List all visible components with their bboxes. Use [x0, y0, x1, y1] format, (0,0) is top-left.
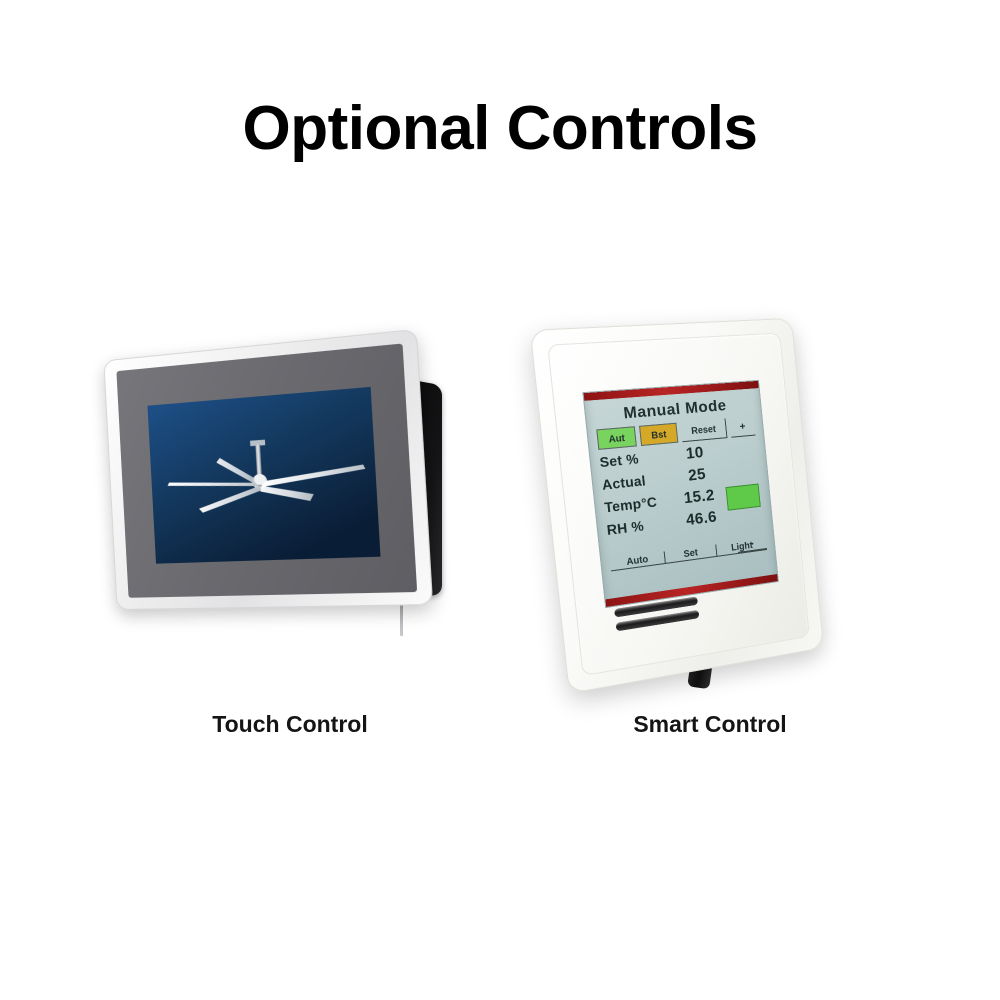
product-caption-touch-control: Touch Control — [80, 711, 500, 738]
smart-control-device[interactable]: Manual Mode Aut Bst Reset + Set % — [548, 318, 878, 718]
readout-value-set: 10 — [664, 442, 724, 465]
ceiling-fan-image — [147, 387, 380, 564]
footer-button-set[interactable]: Set — [664, 544, 718, 564]
touch-control-bezel — [103, 329, 433, 610]
mode-button-reset[interactable]: Reset — [680, 419, 727, 443]
smart-control-lcd-screen[interactable]: Manual Mode Aut Bst Reset + Set % — [582, 380, 778, 608]
footer-button-auto[interactable]: Auto — [610, 551, 666, 571]
touch-control-screen[interactable] — [147, 387, 380, 564]
touch-control-inner-frame — [116, 343, 417, 597]
page-title: Optional Controls — [0, 98, 1000, 160]
product-smart-control: Manual Mode Aut Bst Reset + Set % — [500, 300, 920, 780]
readout-spacer — [724, 452, 757, 455]
product-touch-control: Touch Control — [80, 300, 500, 780]
increment-button[interactable]: + — [729, 416, 755, 438]
smart-control-faceplate: Manual Mode Aut Bst Reset + Set % — [547, 333, 810, 677]
readout-label-set: Set % — [599, 448, 666, 470]
touch-control-device[interactable] — [110, 360, 460, 635]
readout-spacer — [731, 516, 764, 520]
product-gallery: Touch Control Manual Mode Aut Bst Reset — [0, 300, 1000, 780]
mode-button-auto[interactable]: Aut — [596, 426, 637, 450]
smart-control-body: Manual Mode Aut Bst Reset + Set % — [530, 318, 824, 694]
product-caption-smart-control: Smart Control — [500, 711, 920, 738]
mode-button-boost[interactable]: Bst — [639, 423, 678, 446]
readout-spacer — [726, 473, 759, 477]
lcd-content: Manual Mode Aut Bst Reset + Set % — [584, 388, 777, 599]
status-indicator-badge — [725, 483, 760, 510]
